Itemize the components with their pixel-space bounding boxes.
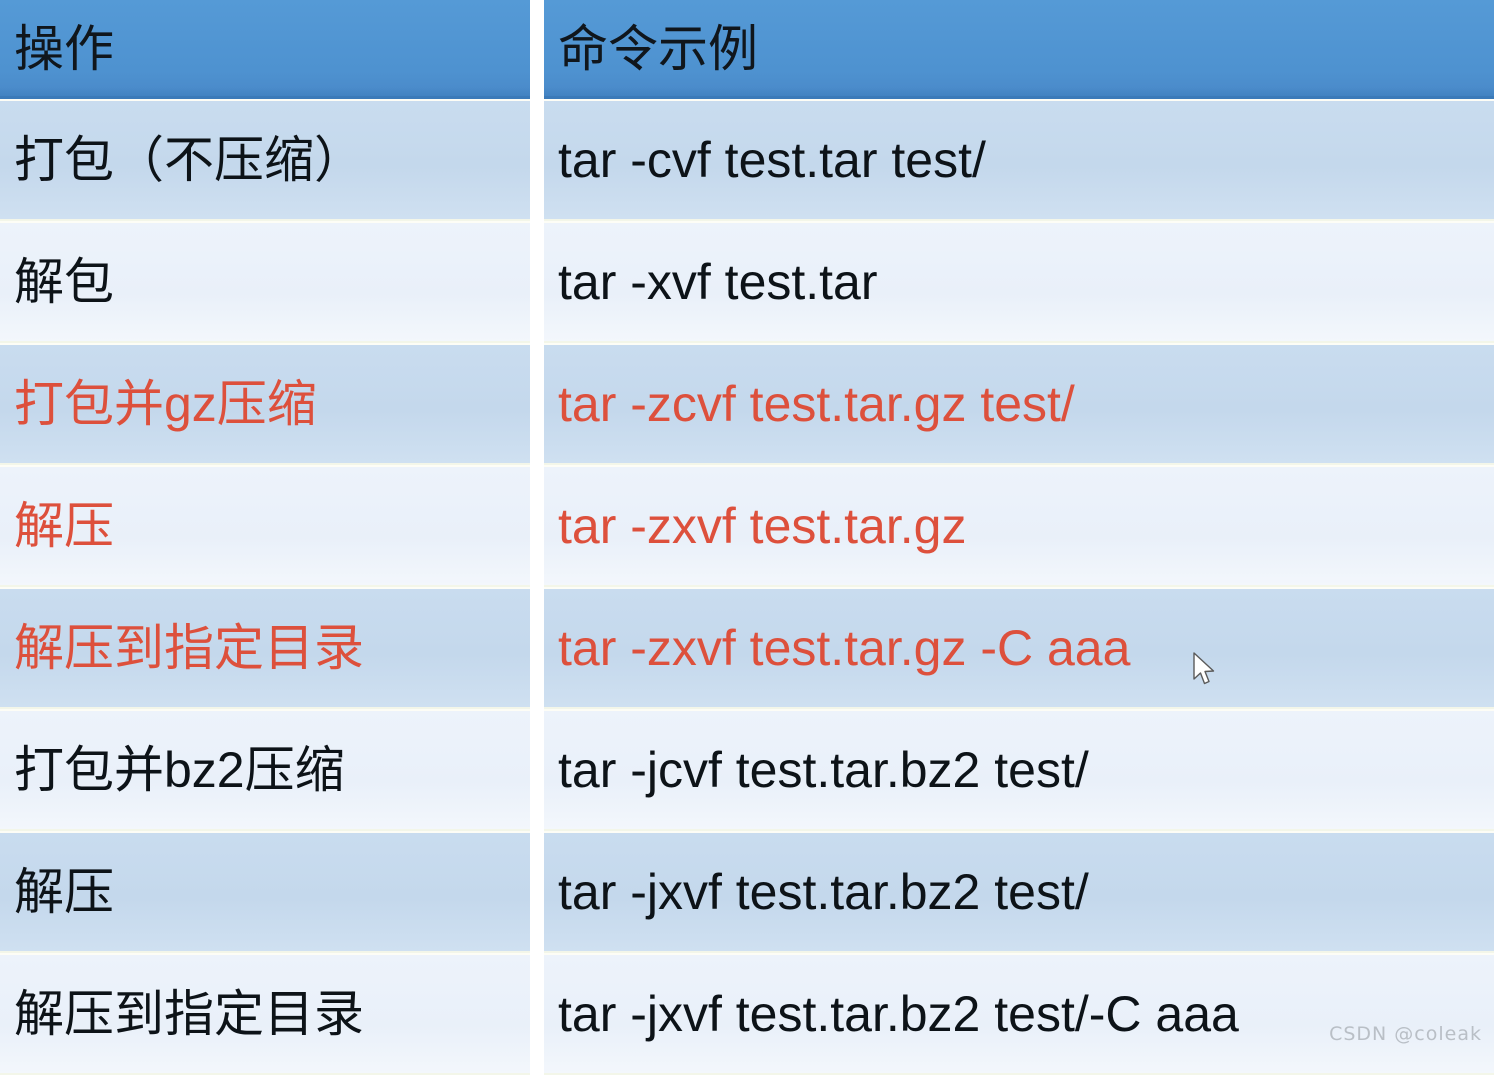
column-divider bbox=[530, 343, 544, 465]
table-row: 打包并bz2压缩tar -jcvf test.tar.bz2 test/ bbox=[0, 709, 1494, 831]
table-row: 打包并gz压缩tar -zcvf test.tar.gz test/ bbox=[0, 343, 1494, 465]
cell-command: tar -zxvf test.tar.gz -C aaa bbox=[544, 587, 1494, 709]
column-divider bbox=[530, 465, 544, 587]
cell-command: tar -jxvf test.tar.bz2 test/-C aaa bbox=[544, 953, 1494, 1075]
cell-command: tar -jcvf test.tar.bz2 test/ bbox=[544, 709, 1494, 831]
cell-operation: 打包（不压缩） bbox=[0, 99, 530, 221]
column-header-operation: 操作 bbox=[0, 0, 530, 99]
column-divider bbox=[530, 709, 544, 831]
table-row: 解压到指定目录tar -jxvf test.tar.bz2 test/-C aa… bbox=[0, 953, 1494, 1075]
table-row: 打包（不压缩）tar -cvf test.tar test/ bbox=[0, 99, 1494, 221]
table-row: 解包tar -xvf test.tar bbox=[0, 221, 1494, 343]
table-header-row: 操作 命令示例 bbox=[0, 0, 1494, 99]
column-divider bbox=[530, 831, 544, 953]
tar-command-table: 操作 命令示例 打包（不压缩）tar -cvf test.tar test/解包… bbox=[0, 0, 1494, 1075]
cell-operation: 解压 bbox=[0, 465, 530, 587]
column-divider bbox=[530, 0, 544, 99]
table-header: 操作 命令示例 bbox=[0, 0, 1494, 99]
cell-operation: 打包并gz压缩 bbox=[0, 343, 530, 465]
column-header-command: 命令示例 bbox=[544, 0, 1494, 99]
cell-command: tar -cvf test.tar test/ bbox=[544, 99, 1494, 221]
table-row: 解压tar -jxvf test.tar.bz2 test/ bbox=[0, 831, 1494, 953]
table-row: 解压tar -zxvf test.tar.gz bbox=[0, 465, 1494, 587]
column-divider bbox=[530, 587, 544, 709]
cell-command: tar -jxvf test.tar.bz2 test/ bbox=[544, 831, 1494, 953]
page-root: 操作 命令示例 打包（不压缩）tar -cvf test.tar test/解包… bbox=[0, 0, 1494, 1051]
cell-command: tar -zxvf test.tar.gz bbox=[544, 465, 1494, 587]
cell-command: tar -xvf test.tar bbox=[544, 221, 1494, 343]
cell-command: tar -zcvf test.tar.gz test/ bbox=[544, 343, 1494, 465]
table-body: 打包（不压缩）tar -cvf test.tar test/解包tar -xvf… bbox=[0, 99, 1494, 1075]
column-divider bbox=[530, 221, 544, 343]
cell-operation: 解压到指定目录 bbox=[0, 587, 530, 709]
table-row: 解压到指定目录tar -zxvf test.tar.gz -C aaa bbox=[0, 587, 1494, 709]
cell-operation: 解包 bbox=[0, 221, 530, 343]
column-divider bbox=[530, 99, 544, 221]
cell-operation: 解压到指定目录 bbox=[0, 953, 530, 1075]
cell-operation: 打包并bz2压缩 bbox=[0, 709, 530, 831]
cell-operation: 解压 bbox=[0, 831, 530, 953]
column-divider bbox=[530, 953, 544, 1075]
